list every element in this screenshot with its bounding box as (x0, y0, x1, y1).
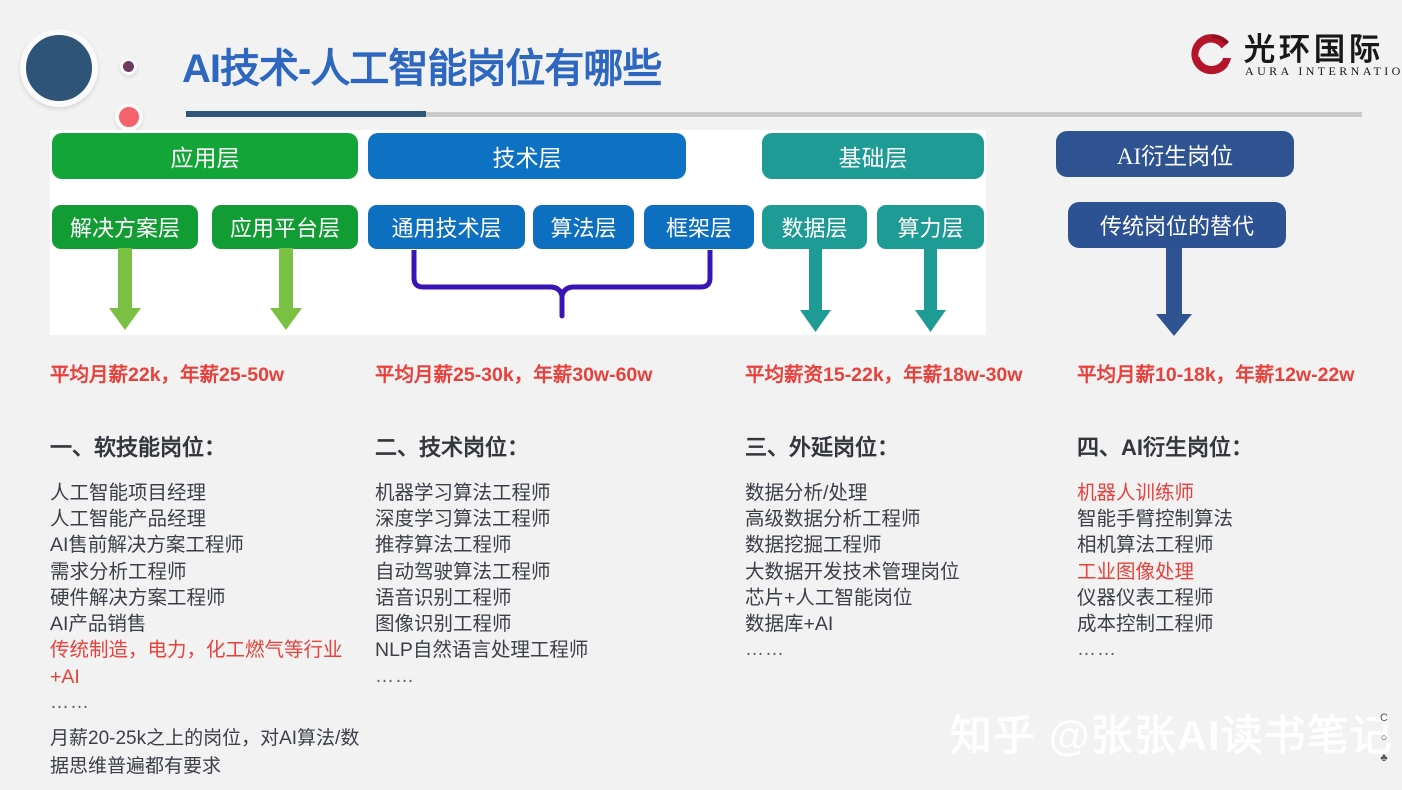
watermark-badge-club: ♣ (1373, 748, 1395, 768)
list-item: 需求分析工程师 (50, 559, 343, 585)
arrow-down-application-2 (266, 248, 306, 336)
group-header-application[interactable]: 应用层 (52, 133, 358, 179)
column-list: 机器人训练师 智能手臂控制算法 相机算法工程师 工业图像处理 仪器仪表工程师 成… (1077, 480, 1253, 663)
list-item: 人工智能产品经理 (50, 506, 343, 532)
list-item: AI售前解决方案工程师 (50, 532, 343, 558)
page-title: AI技术-人工智能岗位有哪些 (182, 36, 661, 94)
decor-circle-red (115, 103, 143, 131)
list-item: 深度学习算法工程师 (375, 506, 588, 532)
list-item: 推荐算法工程师 (375, 532, 588, 558)
list-item: 硬件解决方案工程师 (50, 585, 343, 611)
list-item-ellipsis: …… (1077, 637, 1253, 663)
list-item: 仪器仪表工程师 (1077, 585, 1253, 611)
list-item: 工业图像处理 (1077, 559, 1253, 585)
brand-logo: 光环国际 AURA INTERNATIONAL (1182, 26, 1382, 88)
salary-foundation: 平均薪资15-22k，年薪18w-30w (745, 358, 1022, 387)
salary-application: 平均月薪22k，年薪25-50w (50, 358, 284, 387)
watermark-badge-circle: ○ (1373, 728, 1395, 748)
list-item: 相机算法工程师 (1077, 532, 1253, 558)
list-item: 高级数据分析工程师 (745, 506, 960, 532)
list-item: 智能手臂控制算法 (1077, 506, 1253, 532)
group-child-algorithm-layer[interactable]: 算法层 (533, 205, 634, 249)
column-heading: 四、AI衍生岗位： (1077, 430, 1253, 462)
list-item: 数据库+AI (745, 611, 960, 637)
arrow-down-foundation-2 (912, 248, 950, 336)
column-heading: 二、技术岗位： (375, 430, 588, 462)
column-soft-skill-roles: 一、软技能岗位： 人工智能项目经理 人工智能产品经理 AI售前解决方案工程师 需… (50, 430, 343, 715)
salary-derivative: 平均月薪10-18k，年薪12w-22w (1077, 358, 1354, 387)
column-list: 人工智能项目经理 人工智能产品经理 AI售前解决方案工程师 需求分析工程师 硬件… (50, 480, 343, 715)
column-heading: 一、软技能岗位： (50, 430, 343, 462)
arrow-down-derivative (1152, 248, 1196, 340)
title-rule-accent (186, 111, 426, 117)
column-technical-roles: 二、技术岗位： 机器学习算法工程师 深度学习算法工程师 推荐算法工程师 自动驾驶… (375, 430, 588, 689)
list-item: 数据挖掘工程师 (745, 532, 960, 558)
watermark-badges: C ○ ♣ (1373, 708, 1395, 770)
group-child-traditional-replacement[interactable]: 传统岗位的替代 (1068, 202, 1286, 248)
group-child-compute-layer[interactable]: 算力层 (877, 205, 984, 249)
group-child-app-platform-layer[interactable]: 应用平台层 (212, 205, 358, 249)
group-header-foundation[interactable]: 基础层 (762, 133, 984, 179)
column-extension-roles: 三、外延岗位： 数据分析/处理 高级数据分析工程师 数据挖掘工程师 大数据开发技… (745, 430, 960, 663)
list-item-ellipsis: …… (375, 664, 588, 690)
list-item: 机器学习算法工程师 (375, 480, 588, 506)
list-item: 芯片+人工智能岗位 (745, 585, 960, 611)
list-item: +AI (50, 664, 343, 690)
footnote: 月薪20-25k之上的岗位，对AI算法/数据思维普遍都有要求 (50, 725, 370, 780)
list-item: 成本控制工程师 (1077, 611, 1253, 637)
list-item: 语音识别工程师 (375, 585, 588, 611)
brace-technology-connector (408, 250, 716, 322)
salary-technology: 平均月薪25-30k，年薪30w-60w (375, 358, 652, 387)
decor-circle-purple (120, 58, 137, 75)
group-child-solution-layer[interactable]: 解决方案层 (52, 205, 198, 249)
list-item: 大数据开发技术管理岗位 (745, 559, 960, 585)
group-child-general-tech-layer[interactable]: 通用技术层 (368, 205, 525, 249)
column-list: 机器学习算法工程师 深度学习算法工程师 推荐算法工程师 自动驾驶算法工程师 语音… (375, 480, 588, 689)
arrow-down-foundation-1 (797, 248, 835, 336)
list-item-ellipsis: …… (745, 637, 960, 663)
watermark-text: 知乎 @张张AI读书笔记 (950, 702, 1393, 763)
group-child-framework-layer[interactable]: 框架层 (644, 205, 754, 249)
group-child-data-layer[interactable]: 数据层 (762, 205, 867, 249)
column-ai-derivative-roles: 四、AI衍生岗位： 机器人训练师 智能手臂控制算法 相机算法工程师 工业图像处理… (1077, 430, 1253, 663)
list-item: 自动驾驶算法工程师 (375, 559, 588, 585)
slide-root: AI技术-人工智能岗位有哪些 光环国际 AURA INTERNATIONAL 应… (0, 0, 1402, 790)
list-item: 传统制造，电力，化工燃气等行业 (50, 637, 343, 663)
arrow-down-application-1 (105, 248, 145, 336)
list-item: NLP自然语言处理工程师 (375, 637, 588, 663)
column-list: 数据分析/处理 高级数据分析工程师 数据挖掘工程师 大数据开发技术管理岗位 芯片… (745, 480, 960, 663)
list-item: 数据分析/处理 (745, 480, 960, 506)
logo-name-en: AURA INTERNATIONAL (1245, 64, 1402, 79)
decor-circle-large (20, 29, 98, 107)
column-heading: 三、外延岗位： (745, 430, 960, 462)
list-item: 机器人训练师 (1077, 480, 1253, 506)
group-header-derivative[interactable]: AI衍生岗位 (1056, 131, 1294, 177)
list-item: AI产品销售 (50, 611, 343, 637)
list-item: 人工智能项目经理 (50, 480, 343, 506)
aura-swirl-icon (1182, 26, 1240, 84)
group-header-technology[interactable]: 技术层 (368, 133, 686, 179)
list-item-ellipsis: …… (50, 690, 343, 716)
list-item: 图像识别工程师 (375, 611, 588, 637)
watermark-badge-c: C (1373, 708, 1395, 728)
logo-name-cn: 光环国际 (1244, 24, 1384, 69)
